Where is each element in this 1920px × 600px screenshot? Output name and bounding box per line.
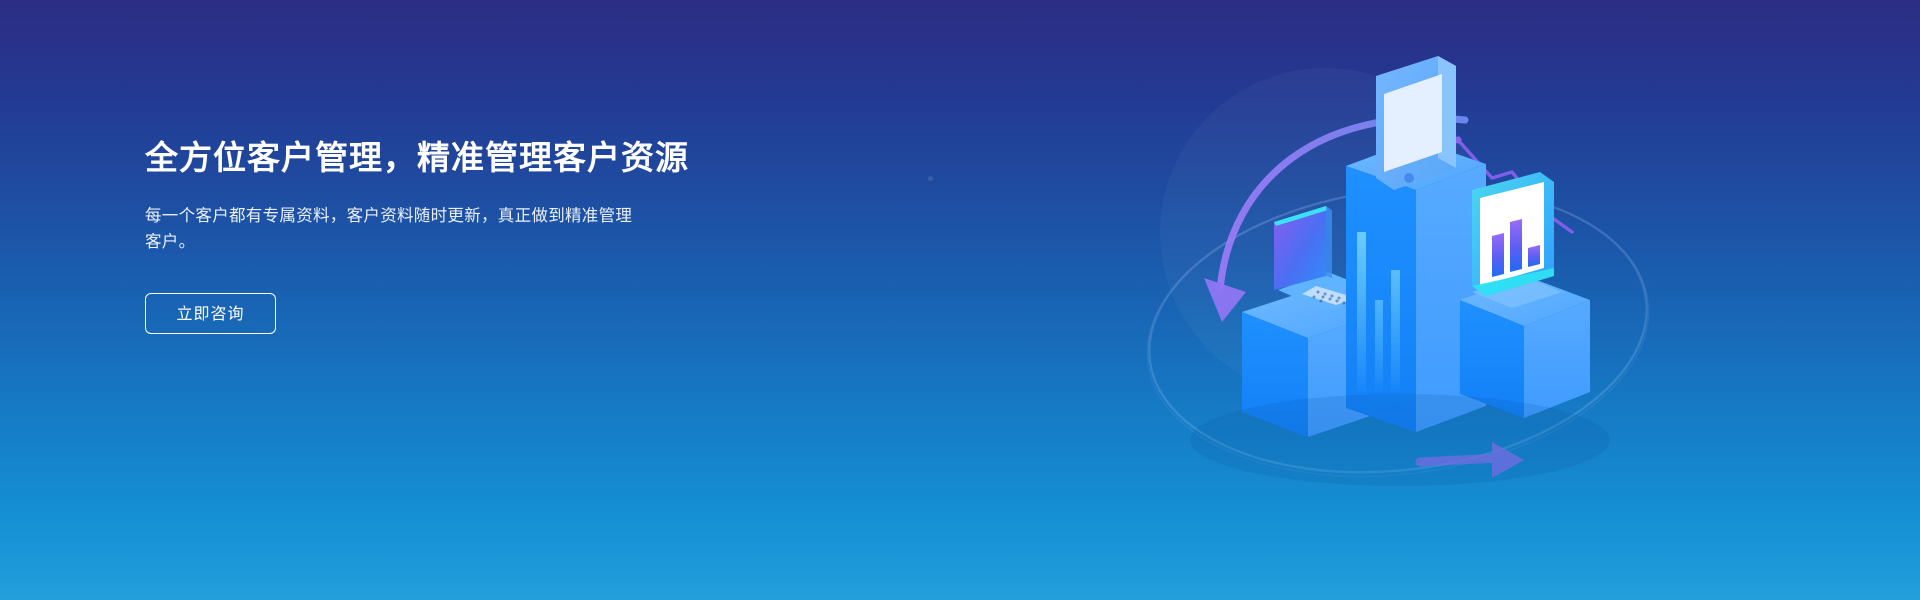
hero-subtitle: 每一个客户都有专属资料，客户资料随时更新，真正做到精准管理客户。	[145, 203, 635, 255]
hero-copy-block: 全方位客户管理，精准管理客户资源 每一个客户都有专属资料，客户资料随时更新，真正…	[145, 135, 785, 334]
hero-banner: 全方位客户管理，精准管理客户资源 每一个客户都有专属资料，客户资料随时更新，真正…	[0, 0, 1920, 600]
tablet-icon	[1376, 56, 1456, 190]
page-title: 全方位客户管理，精准管理客户资源	[145, 135, 785, 181]
consult-now-button[interactable]: 立即咨询	[145, 293, 276, 334]
hero-illustration	[1120, 0, 1680, 600]
background-speck	[928, 176, 933, 181]
monitor-bar-chart-icon	[1472, 172, 1562, 308]
